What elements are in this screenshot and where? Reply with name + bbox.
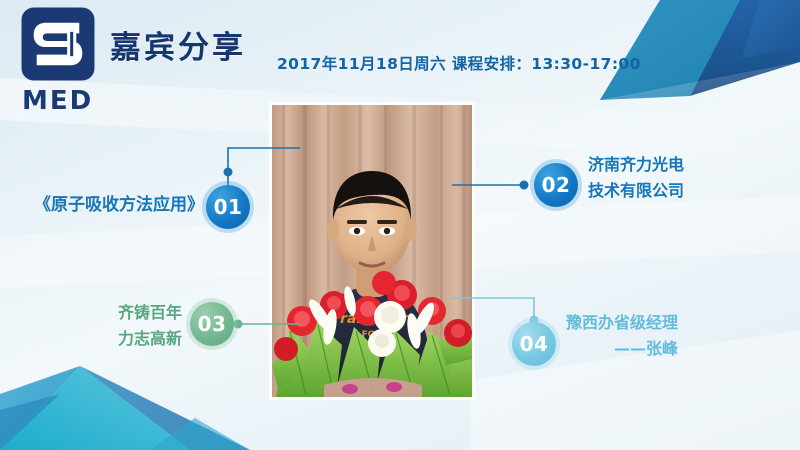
caption-04: 豫西办省级经理 ——张峰 <box>566 310 678 361</box>
badge-04[interactable]: 04 <box>512 322 556 366</box>
caption-01: 《原子吸收方法应用》 <box>8 192 204 219</box>
caption-04-line-2: ——张峰 <box>566 336 678 362</box>
connector-lines <box>0 0 800 450</box>
caption-03: 齐铸百年 力志高新 <box>8 300 182 351</box>
caption-02-line-1: 济南齐力光电 <box>588 152 684 178</box>
badge-01[interactable]: 01 <box>206 185 250 229</box>
badge-02[interactable]: 02 <box>534 163 578 207</box>
caption-03-line-2: 力志高新 <box>8 326 182 352</box>
caption-04-line-1: 豫西办省级经理 <box>566 310 678 336</box>
caption-02-line-2: 技术有限公司 <box>588 178 684 204</box>
caption-01-line-1: 《原子吸收方法应用》 <box>8 192 204 219</box>
caption-02: 济南齐力光电 技术有限公司 <box>588 152 684 203</box>
caption-03-line-1: 齐铸百年 <box>8 300 182 326</box>
badge-03[interactable]: 03 <box>190 302 234 346</box>
presentation-slide: MED 嘉宾分享 2017年11月18日周六 课程安排：13:30-17:00 <box>0 0 800 450</box>
